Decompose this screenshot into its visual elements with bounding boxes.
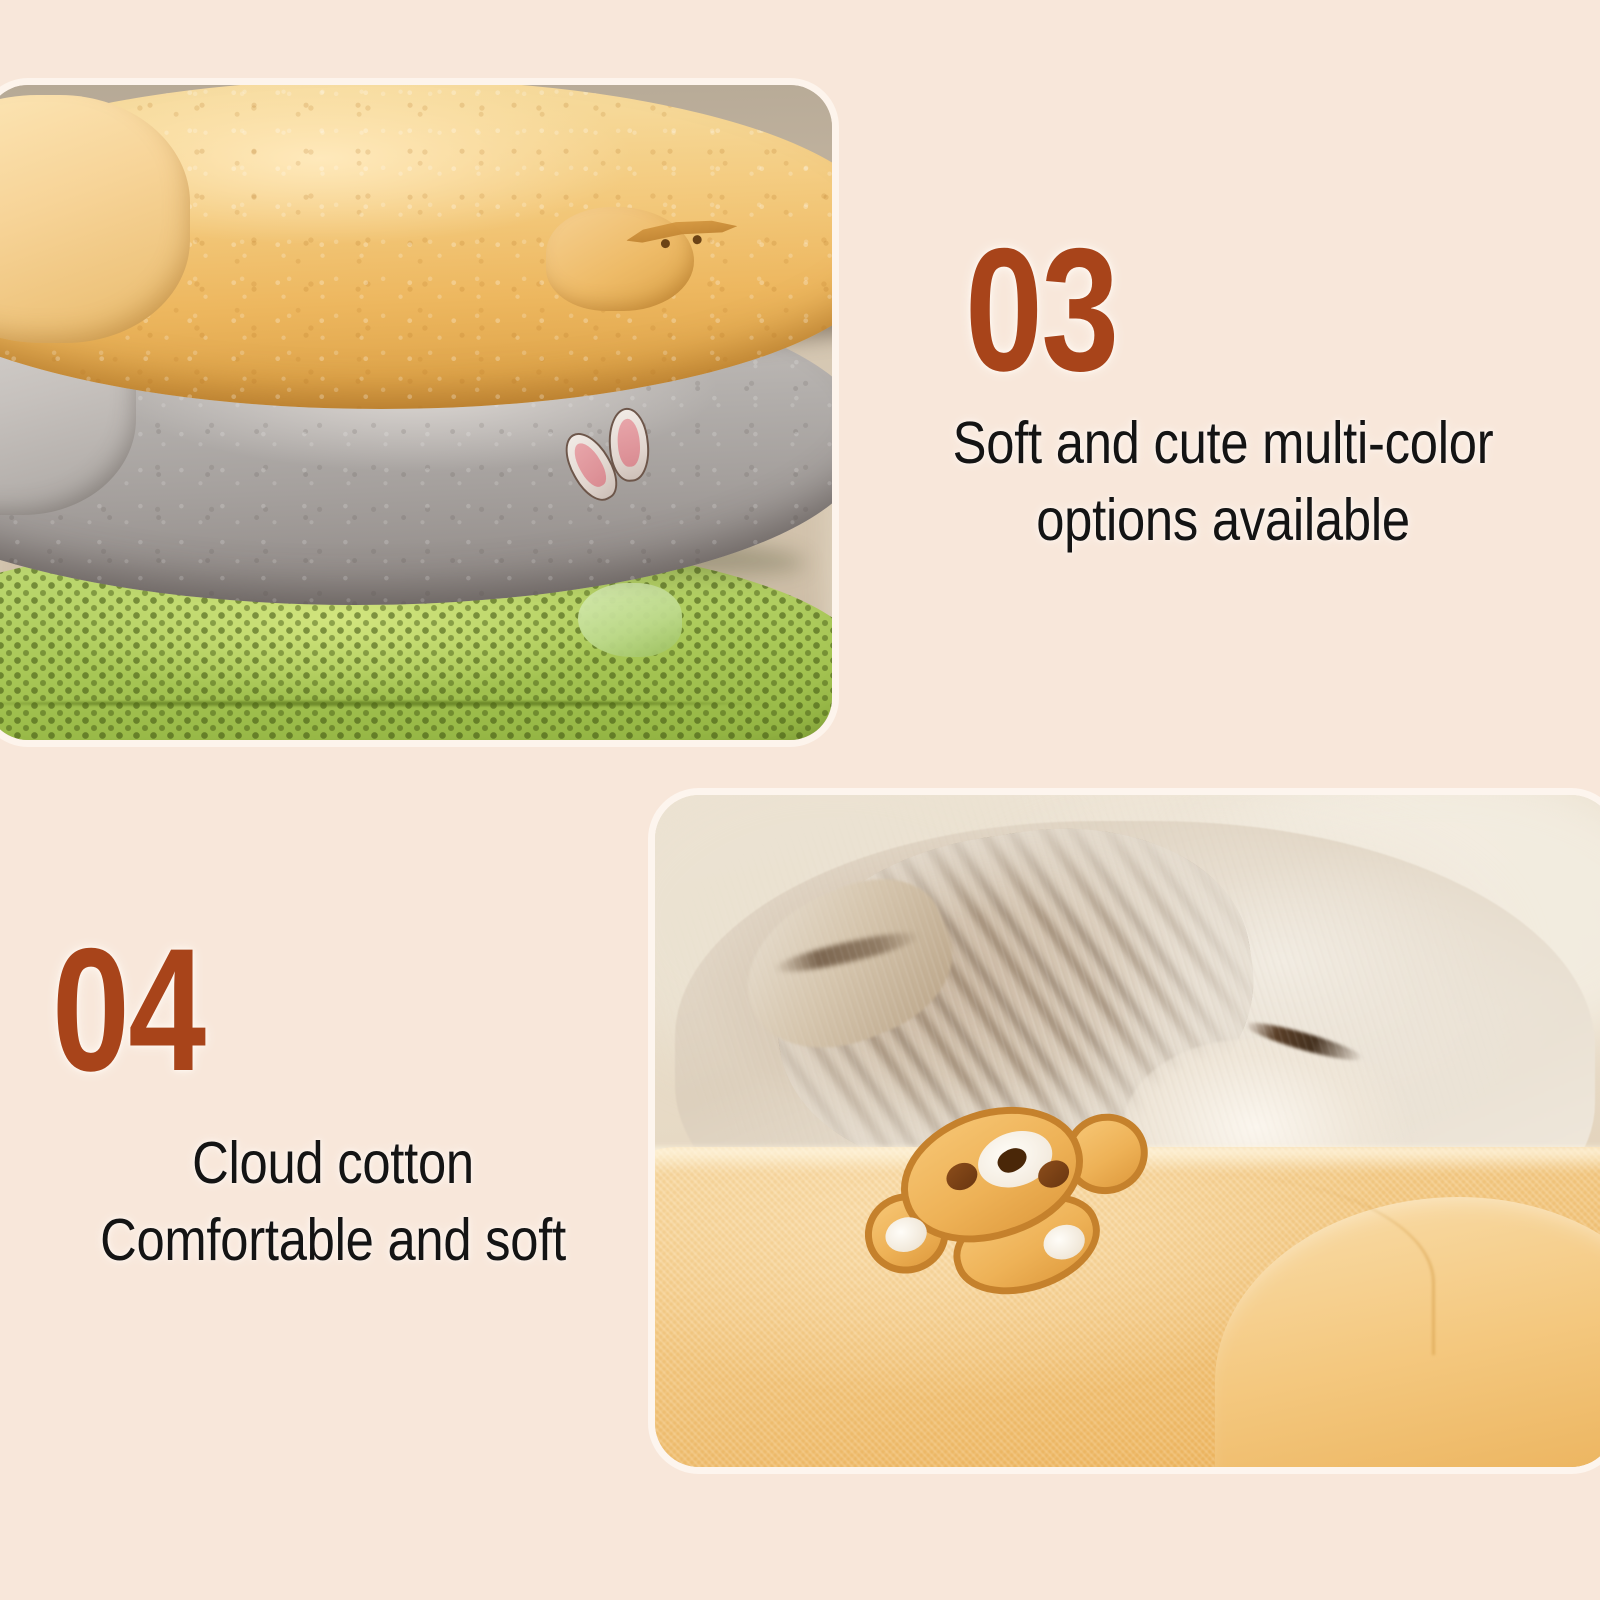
feature-number-04: 04 bbox=[52, 930, 205, 1091]
face-eye-right bbox=[692, 235, 702, 245]
sleeping-cat-photo bbox=[655, 795, 1600, 1467]
stacked-pillows-photo bbox=[0, 85, 832, 740]
face-brow bbox=[625, 214, 739, 249]
bunny-ear-inner-left bbox=[569, 439, 612, 492]
feature-number-03: 03 bbox=[965, 230, 1118, 391]
feature-caption-03: Soft and cute multi-color options availa… bbox=[892, 405, 1554, 558]
face-eye-left bbox=[660, 239, 670, 249]
bunny-ear-inner-right bbox=[616, 418, 641, 467]
product-feature-page: 03 Soft and cute multi-color options ava… bbox=[0, 0, 1600, 1600]
green-pillow-flap bbox=[578, 583, 682, 657]
feature-caption-04: Cloud cotton Comfortable and soft bbox=[54, 1125, 613, 1278]
